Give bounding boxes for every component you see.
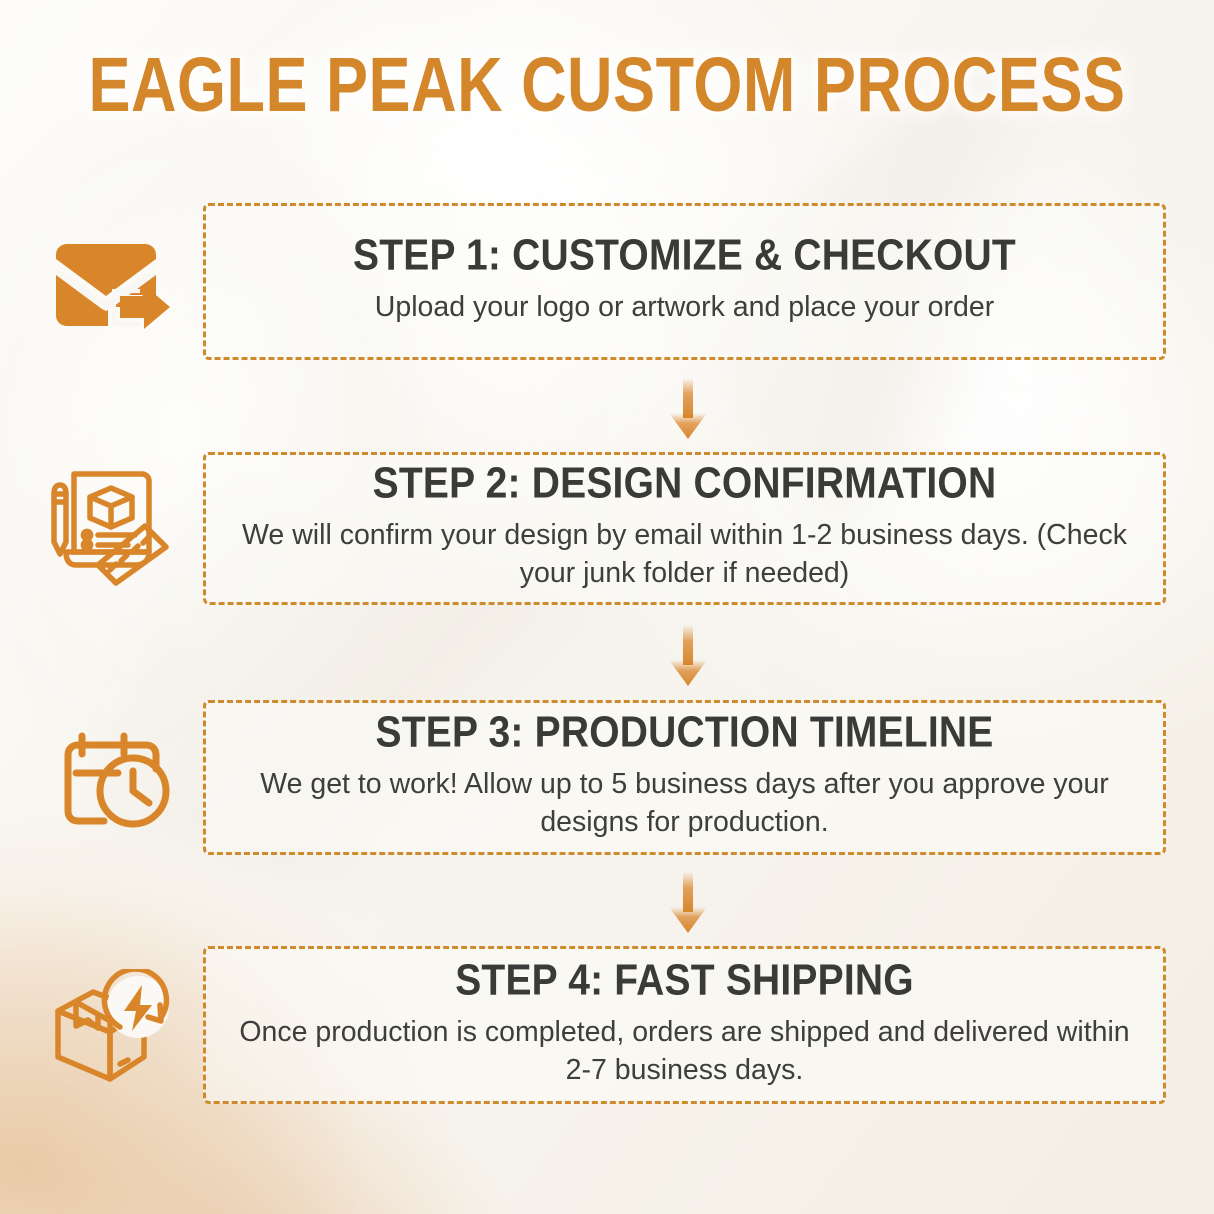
arrow-step3-to-step4 (664, 872, 712, 934)
step-4-box[interactable]: STEP 4: FAST SHIPPING Once production is… (203, 946, 1166, 1104)
step-1-title: STEP 1: CUSTOMIZE & CHECKOUT (353, 230, 1016, 282)
step-4-description: Once production is completed, orders are… (234, 1013, 1135, 1089)
step-3-title: STEP 3: PRODUCTION TIMELINE (376, 707, 994, 759)
step-4-title: STEP 4: FAST SHIPPING (455, 955, 914, 1007)
step-1-box[interactable]: STEP 1: CUSTOMIZE & CHECKOUT Upload your… (203, 203, 1166, 360)
step-1-description: Upload your logo or artwork and place yo… (375, 288, 994, 326)
step-2-description: We will confirm your design by email wit… (234, 516, 1135, 592)
infographic-canvas: EAGLE PEAK CUSTOM PROCESS STEP 1: CUSTOM… (0, 0, 1214, 1214)
process-steps-list: STEP 1: CUSTOMIZE & CHECKOUT Upload your… (0, 0, 1214, 1214)
design-blueprint-icon (35, 462, 185, 592)
step-3-description: We get to work! Allow up to 5 business d… (234, 765, 1135, 841)
arrow-step1-to-step2 (664, 378, 712, 440)
fast-shipping-box-icon (35, 962, 185, 1092)
step-2-box[interactable]: STEP 2: DESIGN CONFIRMATION We will conf… (203, 452, 1166, 605)
step-3-box[interactable]: STEP 3: PRODUCTION TIMELINE We get to wo… (203, 700, 1166, 855)
envelope-forward-icon (35, 220, 185, 350)
calendar-clock-icon (35, 712, 185, 842)
step-2-title: STEP 2: DESIGN CONFIRMATION (373, 458, 997, 510)
arrow-step2-to-step3 (664, 625, 712, 687)
